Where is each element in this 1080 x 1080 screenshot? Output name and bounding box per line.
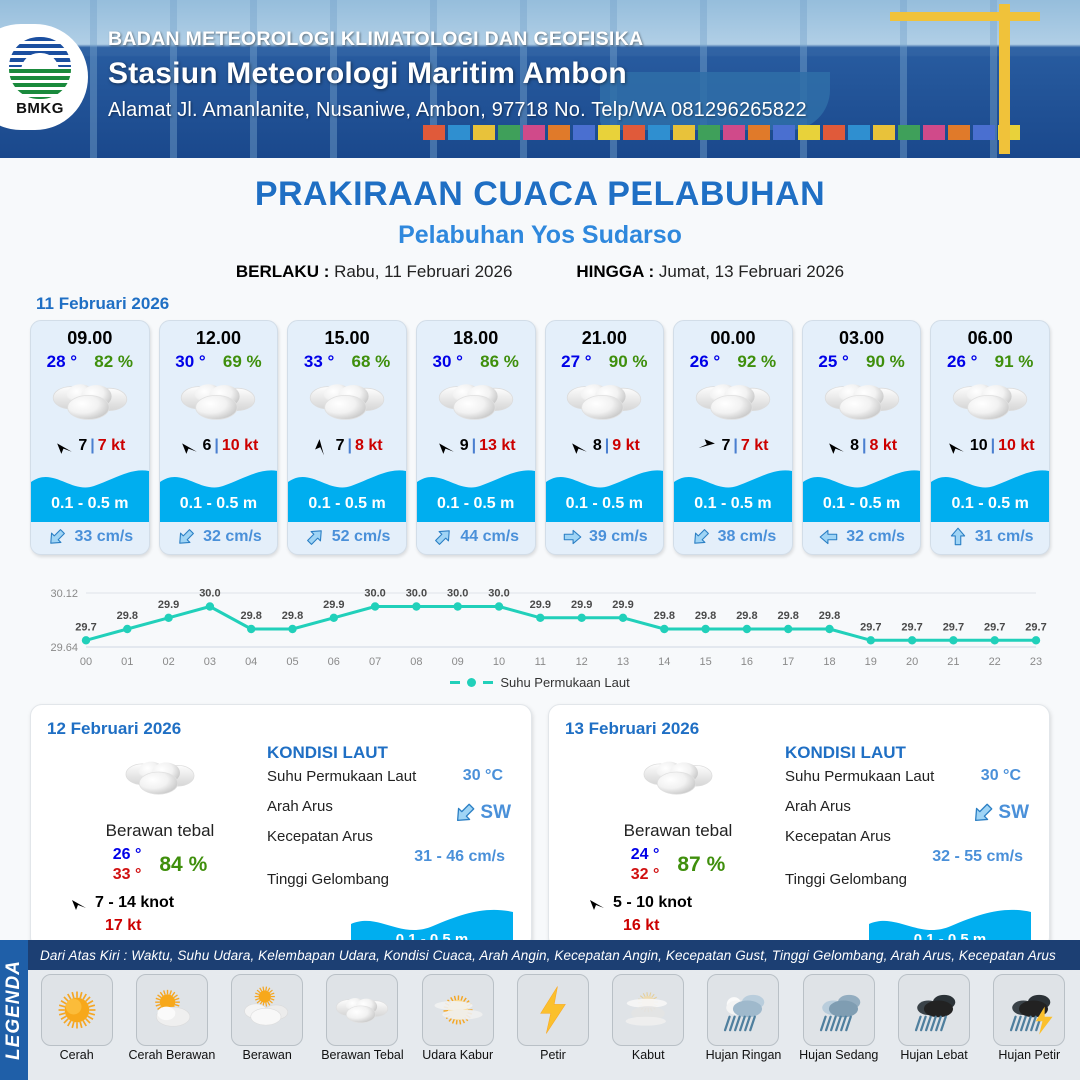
card-wind-speed: 8 [593, 437, 602, 455]
card-humidity: 86 % [480, 352, 519, 372]
card-current: 32 cm/s [160, 522, 278, 552]
current-direction-arrow-icon [447, 795, 484, 832]
svg-text:10: 10 [493, 656, 505, 668]
bmkg-logo: BMKG [0, 24, 88, 130]
card-wave: 0.1 - 0.5 m [674, 460, 792, 522]
legend-item: Petir [508, 974, 597, 1062]
legend-icon-box [326, 974, 398, 1046]
current-direction-arrow-icon [42, 521, 73, 552]
validity-row: BERLAKU : Rabu, 11 Februari 2026 HINGGA … [0, 262, 1080, 282]
daily-temp-max: 32 ° [631, 865, 660, 885]
chart-ytick-max: 30.12 [50, 588, 78, 600]
legend-icon-box [41, 974, 113, 1046]
wind-direction-arrow-icon [179, 436, 200, 457]
legend-line-icon [450, 681, 460, 684]
wind-direction-arrow-icon [307, 431, 337, 461]
page-subtitle: Pelabuhan Yos Sudarso [0, 221, 1080, 250]
overcast-icon [693, 377, 773, 427]
daily-gust: 17 kt [55, 917, 265, 935]
hourly-card: 09.00 28 ° 82 % 7 | 7 kt [30, 320, 150, 555]
card-time: 00.00 [674, 321, 792, 349]
svg-text:03: 03 [204, 656, 216, 668]
svg-text:15: 15 [699, 656, 711, 668]
card-gust: 10 kt [998, 437, 1034, 455]
svg-text:00: 00 [80, 656, 92, 668]
current-direction-value: SW [452, 800, 511, 826]
svg-text:18: 18 [823, 656, 835, 668]
wind-direction-arrow-icon [569, 436, 590, 457]
svg-text:29.7: 29.7 [943, 621, 964, 633]
legend-icon-box [993, 974, 1065, 1046]
svg-text:23: 23 [1030, 656, 1042, 668]
svg-text:29.7: 29.7 [1025, 621, 1046, 633]
card-wind: 7 | 8 kt [288, 434, 406, 458]
card-weather-icon [931, 374, 1049, 430]
legend-item: Berawan Tebal [318, 974, 407, 1062]
card-current: 31 cm/s [931, 522, 1049, 552]
current-direction-arrow-icon [299, 521, 330, 552]
card-current: 32 cm/s [803, 522, 921, 552]
card-temperature: 28 ° [47, 352, 77, 372]
svg-text:11: 11 [535, 656, 546, 668]
wind-direction-arrow-icon [69, 893, 89, 913]
current-direction-arrow-icon [428, 521, 459, 552]
card-humidity: 68 % [352, 352, 391, 372]
legend-item: Hujan Sedang [794, 974, 883, 1062]
current-speed-label: Kecepatan Arus [785, 828, 891, 845]
card-separator: | [862, 437, 866, 455]
legend-dot-icon [467, 678, 476, 687]
moderate-rain-icon [811, 982, 867, 1038]
card-separator: | [991, 437, 995, 455]
daily-weather-icon [55, 749, 265, 807]
legend-item-label: Hujan Ringan [699, 1048, 788, 1062]
current-speed-value: 31 - 46 cm/s [414, 848, 505, 866]
card-weather-icon [31, 374, 149, 430]
svg-text:29.9: 29.9 [323, 599, 344, 611]
daily-temp-min: 24 ° [631, 845, 660, 865]
svg-text:29.8: 29.8 [117, 610, 138, 622]
card-current: 38 cm/s [674, 522, 792, 552]
legend-item-label: Hujan Sedang [794, 1048, 883, 1062]
sea-condition-title: KONDISI LAUT [785, 743, 1035, 763]
card-time: 06.00 [931, 321, 1049, 349]
card-current-speed: 32 cm/s [846, 528, 905, 546]
sea-condition-title: KONDISI LAUT [267, 743, 517, 763]
hourly-card: 15.00 33 ° 68 % 7 | 8 kt [287, 320, 407, 555]
legend-item: Hujan Lebat [889, 974, 978, 1062]
svg-text:04: 04 [245, 656, 257, 668]
sun-cloud-icon [144, 982, 200, 1038]
card-wind-speed: 10 [970, 437, 988, 455]
card-separator: | [605, 437, 609, 455]
chart-legend: Suhu Permukaan Laut [0, 675, 1080, 690]
card-time: 12.00 [160, 321, 278, 349]
organization-name: BADAN METEOROLOGI KLIMATOLOGI DAN GEOFIS… [108, 28, 807, 51]
legend-icon-box [231, 974, 303, 1046]
hourly-card: 18.00 30 ° 86 % 9 | 13 kt [416, 320, 536, 555]
overcast-icon [307, 377, 387, 427]
cloudy-icon [239, 982, 295, 1038]
svg-text:20: 20 [906, 656, 918, 668]
hourly-card: 21.00 27 ° 90 % 8 | 9 kt [545, 320, 665, 555]
daily-humidity: 87 % [677, 853, 725, 877]
legend-item: Berawan [223, 974, 312, 1062]
card-wave-height: 0.1 - 0.5 m [546, 495, 664, 513]
hourly-card: 00.00 26 ° 92 % 7 | 7 kt [673, 320, 793, 555]
card-wave: 0.1 - 0.5 m [160, 460, 278, 522]
legend-item-label: Berawan Tebal [318, 1048, 407, 1062]
station-address: Alamat Jl. Amanlanite, Nusaniwe, Ambon, … [108, 99, 807, 122]
svg-text:30.0: 30.0 [447, 588, 468, 600]
svg-text:13: 13 [617, 656, 629, 668]
card-wind: 9 | 13 kt [417, 434, 535, 458]
legend-icon-box [136, 974, 208, 1046]
haze-icon [430, 982, 486, 1038]
legend-note: Dari Atas Kiri : Waktu, Suhu Udara, Kele… [28, 940, 1080, 970]
card-wave: 0.1 - 0.5 m [546, 460, 664, 522]
current-direction-arrow-icon [561, 526, 583, 548]
overcast-icon [178, 377, 258, 427]
card-current-speed: 52 cm/s [332, 528, 391, 546]
svg-text:01: 01 [121, 656, 133, 668]
page-title: PRAKIRAAN CUACA PELABUHAN [0, 175, 1080, 214]
legend-bar: LEGENDA Dari Atas Kiri : Waktu, Suhu Uda… [0, 940, 1080, 1080]
current-direction-arrow-icon [947, 526, 969, 548]
card-current-speed: 32 cm/s [203, 528, 262, 546]
daily-condition: Berawan tebal [55, 821, 265, 841]
valid-from: BERLAKU : Rabu, 11 Februari 2026 [236, 262, 513, 282]
wave-height-label: Tinggi Gelombang [267, 871, 389, 888]
daily-temp-min: 26 ° [113, 845, 142, 865]
card-temperature: 25 ° [818, 352, 848, 372]
station-name: Stasiun Meteorologi Maritim Ambon [108, 57, 807, 91]
hourly-date-label: 11 Februari 2026 [36, 294, 1080, 314]
svg-text:29.8: 29.8 [282, 610, 303, 622]
card-wave-height: 0.1 - 0.5 m [417, 495, 535, 513]
daily-gust: 16 kt [573, 917, 783, 935]
svg-text:12: 12 [576, 656, 588, 668]
card-separator: | [733, 437, 737, 455]
svg-text:29.9: 29.9 [612, 599, 633, 611]
daily-panel: 12 Februari 2026 Berawan tebal 26 ° 33 ° [30, 704, 532, 949]
daily-date: 12 Februari 2026 [47, 719, 515, 739]
overcast-icon [123, 755, 197, 801]
current-direction-label: Arah Arus [267, 798, 333, 815]
current-direction-text: SW [998, 802, 1029, 824]
card-temperature: 30 ° [432, 352, 462, 372]
daily-wind: 5 - 10 knot [573, 893, 783, 913]
legend-side-label: LEGENDA [3, 960, 25, 1060]
card-time: 21.00 [546, 321, 664, 349]
overcast-icon [950, 377, 1030, 427]
card-wind: 10 | 10 kt [931, 434, 1049, 458]
legend-icon-box [517, 974, 589, 1046]
card-wind-speed: 7 [78, 437, 87, 455]
card-wave: 0.1 - 0.5 m [288, 460, 406, 522]
card-current-speed: 44 cm/s [460, 528, 519, 546]
svg-text:09: 09 [452, 656, 464, 668]
card-wind: 8 | 8 kt [803, 434, 921, 458]
card-separator: | [90, 437, 94, 455]
wind-direction-arrow-icon [587, 893, 607, 913]
card-temperature: 26 ° [690, 352, 720, 372]
card-wave-height: 0.1 - 0.5 m [160, 495, 278, 513]
daily-weather-icon [573, 749, 783, 807]
legend-icon-box [612, 974, 684, 1046]
card-wind-speed: 9 [460, 437, 469, 455]
current-direction-value: SW [970, 800, 1029, 826]
svg-text:29.8: 29.8 [240, 610, 261, 622]
sst-chart: 30.12 29.64 29.729.829.930.029.829.829.9… [30, 565, 1050, 673]
legend-item-label: Hujan Petir [985, 1048, 1074, 1062]
legend-item: Udara Kabur [413, 974, 502, 1062]
fog-icon [620, 982, 676, 1038]
svg-text:22: 22 [989, 656, 1001, 668]
current-direction-text: SW [480, 802, 511, 824]
card-wind: 8 | 9 kt [546, 434, 664, 458]
legend-icon-box [707, 974, 779, 1046]
current-direction-arrow-icon [965, 795, 1002, 832]
svg-text:07: 07 [369, 656, 381, 668]
card-current: 33 cm/s [31, 522, 149, 552]
svg-text:17: 17 [782, 656, 794, 668]
card-humidity: 92 % [737, 352, 776, 372]
legend-item-label: Kabut [604, 1048, 693, 1062]
card-gust: 7 kt [98, 437, 126, 455]
card-separator: | [472, 437, 476, 455]
svg-text:30.0: 30.0 [488, 588, 509, 600]
svg-text:06: 06 [328, 656, 340, 668]
svg-text:14: 14 [658, 656, 670, 668]
hourly-card: 06.00 26 ° 91 % 10 | 10 kt [930, 320, 1050, 555]
daily-date: 13 Februari 2026 [565, 719, 1033, 739]
svg-text:30.0: 30.0 [406, 588, 427, 600]
card-wave: 0.1 - 0.5 m [931, 460, 1049, 522]
card-time: 15.00 [288, 321, 406, 349]
card-wave: 0.1 - 0.5 m [803, 460, 921, 522]
svg-text:05: 05 [286, 656, 298, 668]
card-wave-height: 0.1 - 0.5 m [674, 495, 792, 513]
legend-item-label: Udara Kabur [413, 1048, 502, 1062]
overcast-icon [436, 377, 516, 427]
valid-to-value: Jumat, 13 Februari 2026 [659, 262, 844, 281]
legend-item: Cerah Berawan [127, 974, 216, 1062]
card-gust: 10 kt [222, 437, 258, 455]
card-wind: 7 | 7 kt [674, 434, 792, 458]
svg-text:29.8: 29.8 [736, 610, 757, 622]
card-weather-icon [803, 374, 921, 430]
sst-value: 30 °C [981, 767, 1021, 785]
card-time: 18.00 [417, 321, 535, 349]
legend-items: Cerah Cerah Berawan Berawan Berawan Teba… [32, 974, 1074, 1062]
wind-direction-arrow-icon [436, 436, 457, 457]
card-wind-speed: 7 [721, 437, 730, 455]
svg-text:30.0: 30.0 [199, 588, 220, 600]
svg-text:29.8: 29.8 [654, 610, 675, 622]
card-separator: | [214, 437, 218, 455]
card-humidity: 69 % [223, 352, 262, 372]
svg-text:29.9: 29.9 [158, 599, 179, 611]
svg-text:08: 08 [410, 656, 422, 668]
card-weather-icon [674, 374, 792, 430]
svg-text:30.0: 30.0 [364, 588, 385, 600]
legend-item-label: Berawan [223, 1048, 312, 1062]
card-weather-icon [417, 374, 535, 430]
card-current-speed: 31 cm/s [975, 528, 1034, 546]
svg-text:19: 19 [865, 656, 877, 668]
card-current: 39 cm/s [546, 522, 664, 552]
card-gust: 8 kt [355, 437, 383, 455]
card-gust: 9 kt [612, 437, 640, 455]
current-direction-label: Arah Arus [785, 798, 851, 815]
current-direction-arrow-icon [818, 526, 840, 548]
lightning-icon [525, 982, 581, 1038]
svg-text:29.7: 29.7 [75, 621, 96, 633]
card-weather-icon [160, 374, 278, 430]
card-wave-height: 0.1 - 0.5 m [31, 495, 149, 513]
current-direction-arrow-icon [171, 521, 202, 552]
card-time: 09.00 [31, 321, 149, 349]
hourly-card: 03.00 25 ° 90 % 8 | 8 kt [802, 320, 922, 555]
heavy-rain-icon [906, 982, 962, 1038]
legend-item: Cerah [32, 974, 121, 1062]
page-header: BMKG BADAN METEOROLOGI KLIMATOLOGI DAN G… [0, 0, 1080, 158]
header-crane-graphic [880, 4, 1040, 154]
daily-wind-range: 7 - 14 knot [95, 894, 174, 912]
legend-item-label: Cerah Berawan [127, 1048, 216, 1062]
overcast-icon [564, 377, 644, 427]
current-direction-arrow-icon [685, 521, 716, 552]
svg-text:21: 21 [947, 656, 959, 668]
card-time: 03.00 [803, 321, 921, 349]
card-current-speed: 39 cm/s [589, 528, 648, 546]
valid-to: HINGGA : Jumat, 13 Februari 2026 [576, 262, 844, 282]
daily-condition: Berawan tebal [573, 821, 783, 841]
card-weather-icon [546, 374, 664, 430]
card-wind-speed: 8 [850, 437, 859, 455]
legend-icon-box [422, 974, 494, 1046]
overcast-icon [822, 377, 902, 427]
overcast-icon [334, 993, 390, 1028]
daily-humidity: 84 % [159, 853, 207, 877]
card-gust: 7 kt [741, 437, 769, 455]
svg-text:29.8: 29.8 [695, 610, 716, 622]
svg-text:29.9: 29.9 [530, 599, 551, 611]
valid-to-label: HINGGA : [576, 262, 654, 281]
overcast-icon [50, 377, 130, 427]
chart-ytick-min: 29.64 [50, 642, 78, 654]
daily-wind-range: 5 - 10 knot [613, 894, 692, 912]
card-wind: 6 | 10 kt [160, 434, 278, 458]
card-temperature: 27 ° [561, 352, 591, 372]
legend-item: Hujan Petir [985, 974, 1074, 1062]
wind-direction-arrow-icon [946, 436, 967, 457]
daily-panel: 13 Februari 2026 Berawan tebal 24 ° 32 ° [548, 704, 1050, 949]
card-humidity: 90 % [866, 352, 905, 372]
valid-from-label: BERLAKU : [236, 262, 330, 281]
card-weather-icon [288, 374, 406, 430]
daily-temp-max: 33 ° [113, 865, 142, 885]
wind-direction-arrow-icon [693, 431, 723, 461]
svg-text:29.8: 29.8 [819, 610, 840, 622]
bmkg-logo-text: BMKG [3, 100, 77, 117]
legend-icon-box [898, 974, 970, 1046]
legend-item-label: Cerah [32, 1048, 121, 1062]
sst-line-chart: 30.12 29.64 29.729.829.930.029.829.829.9… [30, 565, 1050, 673]
hourly-forecast-cards: 09.00 28 ° 82 % 7 | 7 kt [0, 314, 1080, 555]
legend-side-tab: LEGENDA [0, 940, 28, 1080]
card-gust: 13 kt [479, 437, 515, 455]
wave-height-label: Tinggi Gelombang [785, 871, 907, 888]
svg-text:29.7: 29.7 [984, 621, 1005, 633]
legend-icon-box [803, 974, 875, 1046]
sst-value: 30 °C [463, 767, 503, 785]
card-wave: 0.1 - 0.5 m [417, 460, 535, 522]
svg-text:29.7: 29.7 [860, 621, 881, 633]
legend-item: Hujan Ringan [699, 974, 788, 1062]
card-current-speed: 38 cm/s [718, 528, 777, 546]
card-wave-height: 0.1 - 0.5 m [803, 495, 921, 513]
sun-icon [49, 982, 105, 1038]
card-separator: | [347, 437, 351, 455]
card-temperature: 33 ° [304, 352, 334, 372]
legend-item-label: Petir [508, 1048, 597, 1062]
svg-text:29.9: 29.9 [571, 599, 592, 611]
current-speed-value: 32 - 55 cm/s [932, 848, 1023, 866]
thunder-rain-icon [1001, 982, 1057, 1038]
card-wind: 7 | 7 kt [31, 434, 149, 458]
card-wind-speed: 6 [203, 437, 212, 455]
svg-text:29.8: 29.8 [777, 610, 798, 622]
wind-direction-arrow-icon [54, 436, 75, 457]
light-rain-icon [715, 982, 771, 1038]
legend-item: Kabut [604, 974, 693, 1062]
sst-label: Suhu Permukaan Laut [785, 768, 934, 785]
card-current: 52 cm/s [288, 522, 406, 552]
card-wave-height: 0.1 - 0.5 m [288, 495, 406, 513]
current-speed-label: Kecepatan Arus [267, 828, 373, 845]
svg-text:29.7: 29.7 [901, 621, 922, 633]
card-wave: 0.1 - 0.5 m [31, 460, 149, 522]
daily-wind: 7 - 14 knot [55, 893, 265, 913]
valid-from-value: Rabu, 11 Februari 2026 [334, 262, 512, 281]
wind-direction-arrow-icon [826, 436, 847, 457]
svg-text:02: 02 [162, 656, 174, 668]
hourly-card: 12.00 30 ° 69 % 6 | 10 kt [159, 320, 279, 555]
sst-label: Suhu Permukaan Laut [267, 768, 416, 785]
card-wave-height: 0.1 - 0.5 m [931, 495, 1049, 513]
legend-item-label: Hujan Lebat [889, 1048, 978, 1062]
bmkg-logo-badge [9, 37, 71, 99]
card-humidity: 91 % [995, 352, 1034, 372]
legend-line-icon [483, 681, 493, 684]
card-current-speed: 33 cm/s [74, 528, 133, 546]
chart-legend-label: Suhu Permukaan Laut [500, 675, 629, 690]
overcast-icon [641, 755, 715, 801]
card-humidity: 90 % [609, 352, 648, 372]
svg-text:16: 16 [741, 656, 753, 668]
card-temperature: 26 ° [947, 352, 977, 372]
card-current: 44 cm/s [417, 522, 535, 552]
card-humidity: 82 % [94, 352, 133, 372]
card-temperature: 30 ° [175, 352, 205, 372]
daily-forecast-panels: 12 Februari 2026 Berawan tebal 26 ° 33 ° [0, 698, 1080, 949]
card-gust: 8 kt [869, 437, 897, 455]
